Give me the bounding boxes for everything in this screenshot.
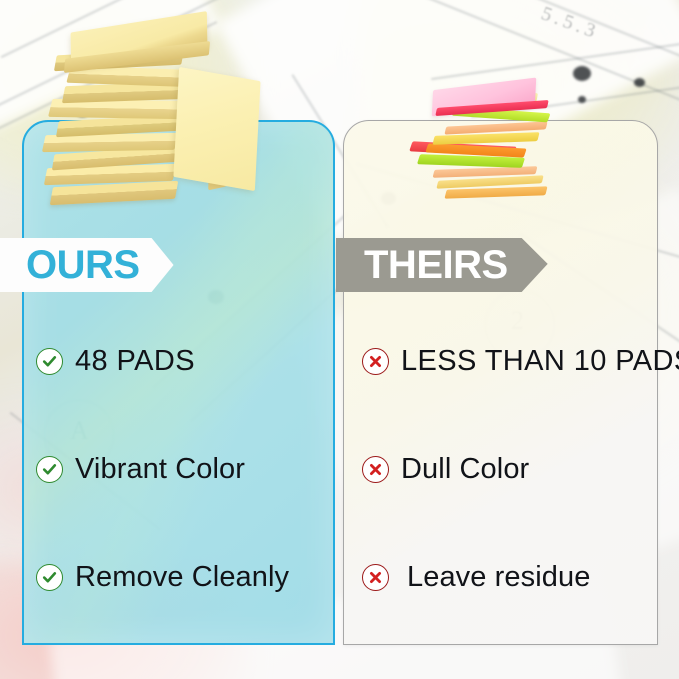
feature-label: Dull Color — [401, 453, 529, 486]
cross-circle-icon — [362, 348, 389, 375]
badge-theirs: THEIRS — [336, 238, 548, 292]
feature-row: Remove Cleanly — [36, 560, 336, 594]
feature-row: 48 PADS — [36, 344, 336, 378]
feature-label: Vibrant Color — [75, 453, 245, 486]
feature-row: LESS THAN 10 PADS — [362, 344, 672, 378]
badge-theirs-label: THEIRS — [364, 245, 508, 285]
sticky-note-stack-ours — [34, 6, 310, 226]
feature-list-ours: 48 PADS Vibrant Color Remove Cleanly — [36, 344, 336, 594]
feature-row: Leave residue — [362, 560, 672, 594]
feature-row: Vibrant Color — [36, 452, 336, 486]
badge-ours: OURS — [0, 238, 174, 292]
check-circle-icon — [36, 348, 63, 375]
blueprint-dot — [634, 78, 645, 87]
sticky-note-stack-theirs — [398, 72, 588, 222]
feature-label: LESS THAN 10 PADS — [401, 345, 679, 378]
check-circle-icon — [36, 456, 63, 483]
comparison-infographic: A 2 5.5.3 OU — [0, 0, 679, 679]
feature-list-theirs: LESS THAN 10 PADS Dull Color Leave resid… — [362, 344, 672, 594]
check-circle-icon — [36, 564, 63, 591]
badge-ours-label: OURS — [26, 245, 140, 285]
feature-label: 48 PADS — [75, 345, 195, 378]
feature-label: Remove Cleanly — [75, 561, 289, 594]
feature-label: Leave residue — [407, 561, 591, 594]
cross-circle-icon — [362, 564, 389, 591]
feature-row: Dull Color — [362, 452, 672, 486]
cross-circle-icon — [362, 456, 389, 483]
